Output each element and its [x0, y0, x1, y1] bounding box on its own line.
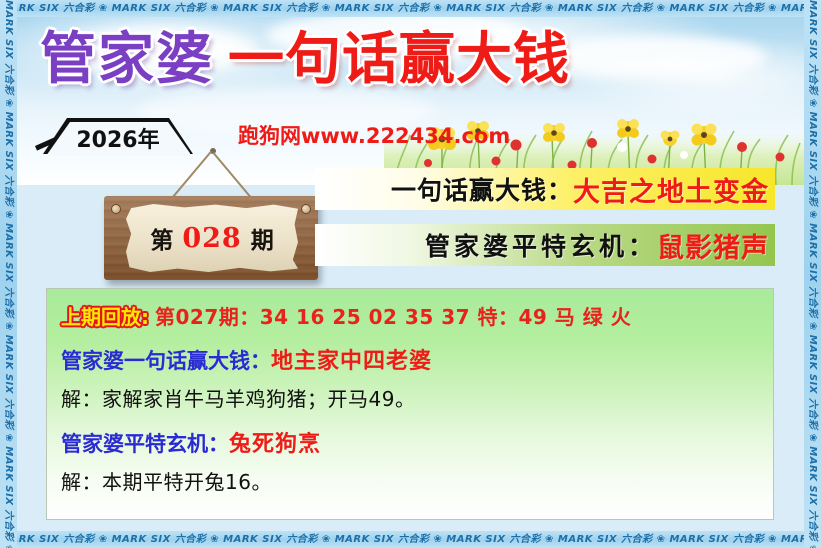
headline-bar-secret-label: 管家婆平特玄机：: [425, 227, 657, 263]
border-marquee-text: MARK SIX 六合彩 ❀ MARK SIX 六合彩 ❀ MARK SIX 六…: [0, 0, 17, 548]
previous-draw-row: 上期回放:第027期：34 16 25 02 35 37 特：49 马 绿 火: [61, 301, 759, 330]
secret-row-label: 管家婆平特玄机：: [61, 432, 229, 456]
border-marquee-left: MARK SIX 六合彩 ❀ MARK SIX 六合彩 ❀ MARK SIX 六…: [0, 0, 17, 548]
headline-bar-phrase: 一句话赢大钱：大吉之地土变金: [315, 168, 775, 210]
phrase-row-answer: 解：家解家肖牛马羊鸡狗猪；开马49。: [61, 383, 759, 412]
previous-draw-label: 上期回放:: [61, 305, 149, 329]
phrase-row: 管家婆一句话赢大钱：地主家中四老婆: [61, 343, 759, 375]
sign-screw-icon: [301, 204, 311, 214]
border-marquee-top: MARK SIX 六合彩 ❀ MARK SIX 六合彩 ❀ MARK SIX 六…: [0, 0, 821, 17]
headline-bar-secret: 管家婆平特玄机：鼠影猪声: [315, 224, 775, 266]
poster-title: 管家婆一句话赢大钱: [40, 28, 570, 92]
issue-sign: 第 028 期: [96, 148, 326, 288]
border-marquee-text: MARK SIX 六合彩 ❀ MARK SIX 六合彩 ❀ MARK SIX 六…: [0, 3, 821, 14]
secret-row-value: 兔死狗烹: [229, 432, 321, 457]
secret-row-answer: 解：本期平特开兔16。: [61, 466, 759, 495]
title-slogan: 一句话赢大钱: [228, 28, 570, 92]
border-marquee-text: MARK SIX 六合彩 ❀ MARK SIX 六合彩 ❀ MARK SIX 六…: [0, 534, 821, 545]
headline-bar-phrase-label: 一句话赢大钱：: [391, 171, 573, 207]
cloud-shape: [537, 35, 767, 79]
headline-bar-phrase-value: 大吉之地土变金: [573, 170, 769, 209]
site-url-link[interactable]: 跑狗网www.222434.com: [238, 120, 510, 150]
lottery-poster: 管家婆一句话赢大钱 跑狗网www.222434.com 2026年 第 028 …: [0, 0, 821, 548]
headline-bar-secret-value: 鼠影猪声: [657, 226, 769, 265]
sign-text: 第 028 期: [126, 204, 298, 272]
content-panel: 上期回放:第027期：34 16 25 02 35 37 特：49 马 绿 火 …: [46, 288, 774, 520]
border-marquee-text: MARK SIX 六合彩 ❀ MARK SIX 六合彩 ❀ MARK SIX 六…: [804, 0, 821, 548]
sign-prefix: 第: [150, 221, 173, 255]
secret-row: 管家婆平特玄机：兔死狗烹: [61, 426, 759, 458]
phrase-row-value: 地主家中四老婆: [271, 349, 432, 374]
border-marquee-right: MARK SIX 六合彩 ❀ MARK SIX 六合彩 ❀ MARK SIX 六…: [804, 0, 821, 548]
title-brand: 管家婆: [40, 28, 214, 92]
sign-wood-board: 第 028 期: [104, 196, 318, 280]
border-marquee-bottom: MARK SIX 六合彩 ❀ MARK SIX 六合彩 ❀ MARK SIX 六…: [0, 531, 821, 548]
sign-screw-icon: [111, 204, 121, 214]
sign-issue-number: 028: [182, 223, 241, 254]
sign-suffix: 期: [251, 221, 274, 255]
frame-edge-left: [33, 126, 38, 483]
previous-draw-result: 第027期：34 16 25 02 35 37 特：49 马 绿 火: [155, 305, 631, 329]
phrase-row-label: 管家婆一句话赢大钱：: [61, 349, 271, 373]
